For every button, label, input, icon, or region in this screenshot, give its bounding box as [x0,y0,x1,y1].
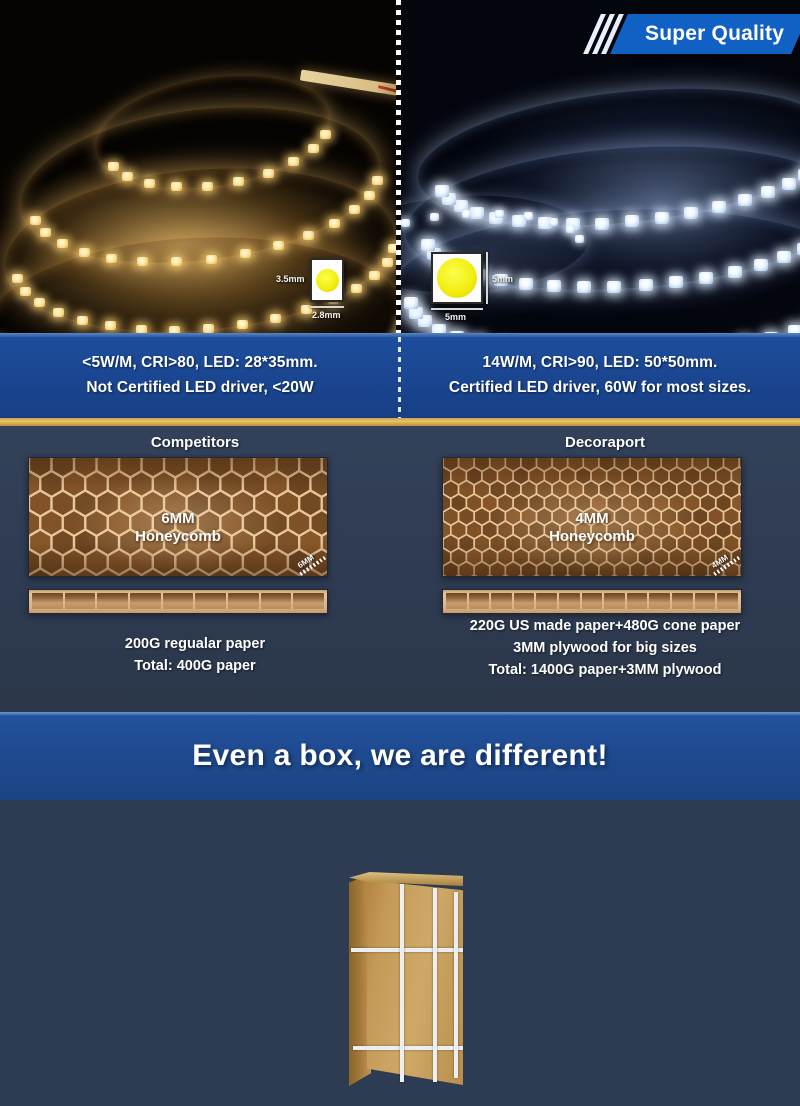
led-dot [12,274,23,283]
led-dot [404,297,418,309]
badge-label: Super Quality [645,22,784,46]
carton-front-panel [367,880,463,1085]
carton-strap [351,948,463,952]
led-dot [524,212,533,220]
led-dot [106,254,117,263]
packaging-text-left: 200G regualar paper Total: 400G paper [0,634,390,678]
led-dot [575,235,584,243]
led-dot [329,219,340,228]
honeycomb-word-right: Honeycomb [443,528,741,546]
led-dot [519,278,533,290]
honeycomb-label-right: 4MM Honeycomb [443,510,741,547]
honeycomb-size-right: 4MM [443,510,741,528]
led-dot [728,266,742,278]
cross-section-cell [469,593,490,609]
led-dot [577,281,591,293]
cross-section-left [28,589,328,614]
led-dot [761,186,775,198]
cross-section-cell [649,593,670,609]
spec-right-line2: Certified LED driver, 60W for most sizes… [449,379,751,397]
badge-body: Super Quality [610,14,800,54]
led-dot [435,185,449,197]
led-chip-graphic [431,252,483,304]
spec-band: <5W/M, CRI>80, LED: 28*35mm. Not Certifi… [0,333,800,418]
led-dot [788,325,800,333]
led-dot [57,239,68,248]
led-dot [303,231,314,240]
photo-divider [396,0,401,333]
packaging-right-line2: 3MM plywood for big sizes [410,638,800,660]
led-dot [308,144,319,153]
cross-section-cell [163,593,194,609]
led-dot [202,182,213,191]
packaging-column-competitors: Competitors 6MM Honeycomb 6MM 200G regua… [0,426,390,712]
cross-section-cell [65,593,96,609]
led-dot [699,272,713,284]
led-dot [432,324,446,333]
led-dot [53,308,64,317]
led-dot [136,325,147,333]
led-dot [77,316,88,325]
led-chip-graphic [310,258,344,302]
product-photo-zone: Super Quality 3.5mm 2.8mm 5mm 5mm [0,0,800,333]
led-dot [684,207,698,219]
packaging-right-line1: 220G US made paper+480G cone paper [410,616,800,638]
led-dot [122,172,133,181]
spec-left-line2: Not Certified LED driver, <20W [86,379,313,397]
led-dot [233,177,244,186]
led-dot [171,182,182,191]
cross-section-cell [228,593,259,609]
led-dot [547,280,561,292]
cross-section-cell [582,593,603,609]
packaging-right-line3: Total: 1400G paper+3MM plywood [410,660,800,682]
led-dot [595,218,609,230]
led-dot [566,225,575,233]
packaging-left-line2: Total: 400G paper [0,656,390,678]
footer-tagline: Even a box, we are different! [192,739,608,773]
led-dot [169,326,180,333]
honeycomb-slab-left: 6MM Honeycomb 6MM [28,457,328,577]
cross-section-cell [195,593,226,609]
honeycomb-label-left: 6MM Honeycomb [29,510,327,547]
led-dot [364,191,375,200]
led-size-callout-left: 3.5mm 2.8mm [310,258,344,302]
packaging-title-left: Competitors [0,434,390,451]
gold-divider [0,418,800,426]
carton-box-illustration [345,866,470,1106]
led-dot [607,281,621,293]
led-dot [20,287,31,296]
led-dot [288,157,299,166]
led-dot [349,205,360,214]
cross-section-cell [261,593,292,609]
cross-section-cell [604,593,625,609]
honeycomb-word-left: Honeycomb [29,528,327,546]
honeycomb-slab-right: 4MM Honeycomb 4MM [442,457,742,577]
led-dot [777,251,791,263]
led-dot [273,241,284,250]
callout-height-label: 5mm [492,274,513,284]
led-dot [669,276,683,288]
cross-section-cell [514,593,535,609]
cross-section-right [442,589,742,614]
cross-section-cell [536,593,557,609]
callout-height-bar [486,252,488,304]
packaging-left-line1: 200G regualar paper [0,634,390,656]
led-dot [240,249,251,258]
led-dot [754,259,768,271]
packaging-column-decoraport: Decoraport 4MM Honeycomb 4MM 220G US mad… [410,426,800,712]
led-dot [270,314,281,323]
led-dot [30,216,41,225]
led-dot [495,210,504,218]
led-dot [401,219,410,227]
callout-width-bar [431,308,483,310]
carton-strap [353,1046,463,1050]
cross-section-cell [491,593,512,609]
footer-banner: Even a box, we are different! [0,712,800,800]
led-dot [382,258,393,267]
honeycomb-size-left: 6MM [29,510,327,528]
led-dot [430,213,439,221]
led-phosphor-icon [316,269,339,292]
led-dot [738,194,752,206]
cross-section-cell [446,593,467,609]
led-dot [369,271,380,280]
led-dot [137,257,148,266]
packaging-text-right: 220G US made paper+480G cone paper 3MM p… [410,616,800,681]
cross-section-cells [32,593,324,609]
carton-strap [400,884,404,1082]
led-dot [40,228,51,237]
callout-height-label: 3.5mm [276,274,305,284]
led-dot [351,284,362,293]
cross-section-cell [672,593,693,609]
led-dot [206,255,217,264]
cross-section-cell [695,593,716,609]
cross-section-cell [130,593,161,609]
led-dot [237,320,248,329]
callout-width-bar [310,306,344,308]
led-dot [639,279,653,291]
led-dot [79,248,90,257]
led-phosphor-icon [437,258,477,298]
led-dot [203,324,214,333]
led-dot [782,178,796,190]
led-dot [105,321,116,330]
led-size-callout-right: 5mm 5mm [431,252,483,304]
spec-column-decoraport: 14W/M, CRI>90, LED: 50*50mm. Certified L… [400,333,800,418]
cross-section-cell [559,593,580,609]
cross-section-cell [717,593,738,609]
led-dot [549,218,558,226]
led-dot [712,201,726,213]
led-dot [108,162,119,171]
led-dot [655,212,669,224]
led-dot [462,210,471,218]
packaging-title-right: Decoraport [410,434,800,451]
led-dot [421,239,435,251]
led-dot [171,257,182,266]
led-dot [797,243,800,255]
cross-section-cells [446,593,738,609]
led-dot [144,179,155,188]
cross-section-cell [97,593,128,609]
comparison-infographic: Super Quality 3.5mm 2.8mm 5mm 5mm <5W/M,… [0,0,800,800]
led-dot [263,169,274,178]
led-dot [320,130,331,139]
led-dot [34,298,45,307]
packaging-section: Competitors 6MM Honeycomb 6MM 200G regua… [0,426,800,712]
callout-width-label: 5mm [445,312,466,322]
cross-section-cell [627,593,648,609]
carton-strap [454,892,458,1078]
led-dot [470,207,484,219]
led-dot [625,215,639,227]
spec-right-line1: 14W/M, CRI>90, LED: 50*50mm. [483,354,718,372]
callout-width-label: 2.8mm [312,310,341,320]
spec-column-competitor: <5W/M, CRI>80, LED: 28*35mm. Not Certifi… [0,333,400,418]
cross-section-cell [32,593,63,609]
super-quality-badge: Super Quality [592,14,800,54]
carton-strap [433,888,437,1082]
spec-left-line1: <5W/M, CRI>80, LED: 28*35mm. [82,354,317,372]
cross-section-cell [293,593,324,609]
led-dot [372,176,383,185]
